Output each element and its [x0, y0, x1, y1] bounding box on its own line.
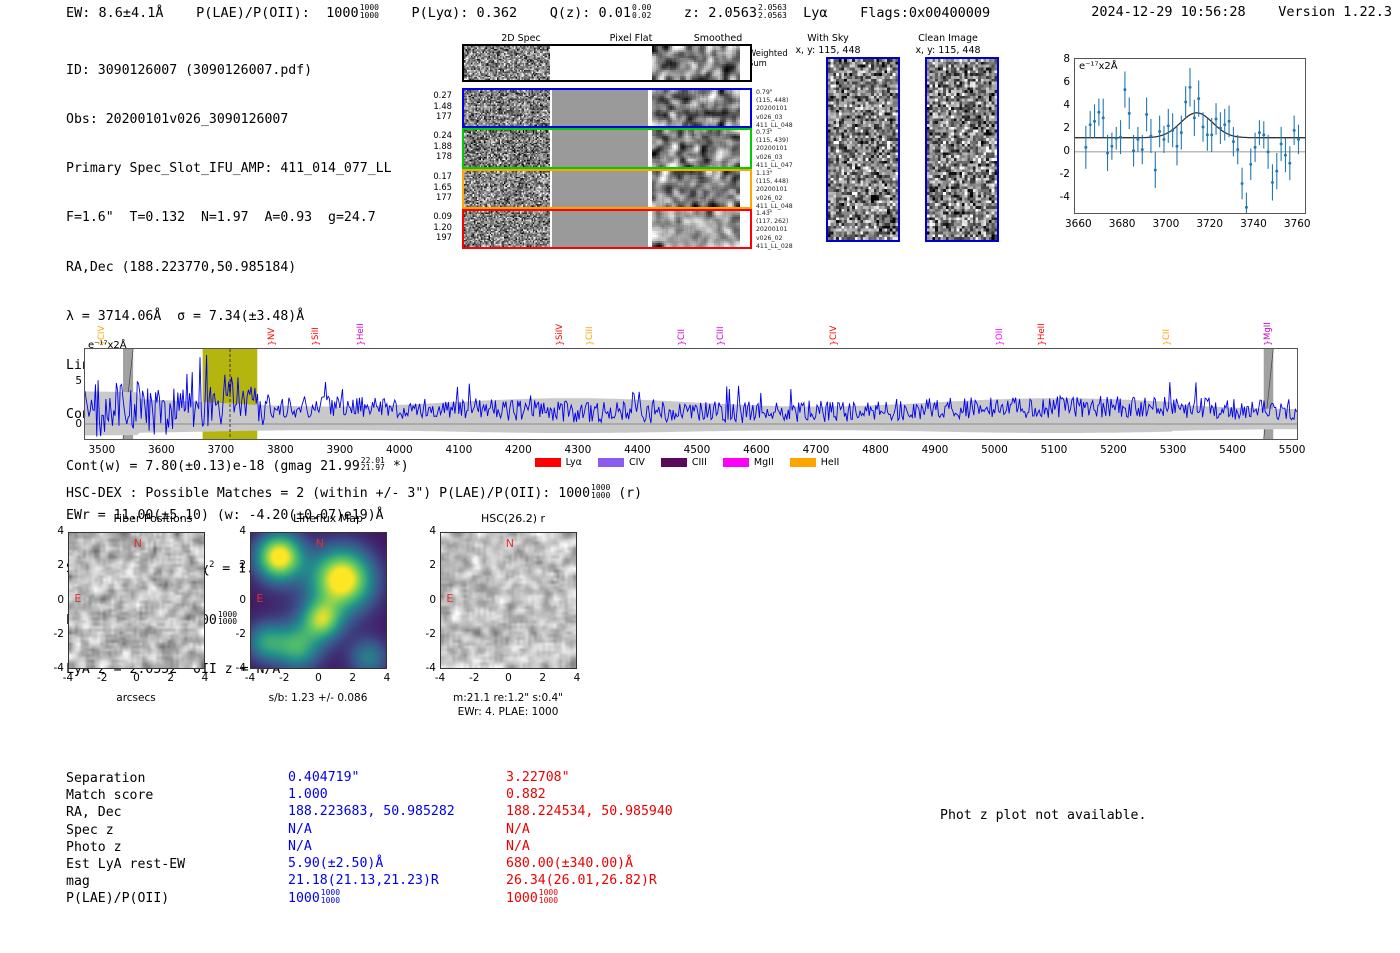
fiber-stats-left: 0.171.65177 [426, 171, 452, 203]
thumbnail-lineflux-map[interactable]: NE [250, 532, 387, 669]
hscdex-headline-pre: HSC-DEX : Possible Matches = 2 (within +… [66, 486, 590, 501]
full-ytick: 0 [52, 418, 82, 430]
line-zoom-plot: e⁻¹⁷x2Å -4-20246836603680370037203740376… [1032, 52, 1312, 242]
header-plya: P(Lyα): 0.362 [412, 5, 518, 21]
emission-line-label: NV [267, 318, 277, 340]
compass-north: N [506, 537, 514, 550]
zoom-unit-label: e⁻¹⁷x2Å [1079, 61, 1118, 72]
match-row-label: Spec z [66, 822, 114, 839]
full-xtick: 4400 [615, 444, 659, 456]
match-row-value: 5.90(±2.50)Å [288, 855, 383, 872]
fiber-meta-right: 1.43"(117, 262)20200101v026_02411_LL_028 [756, 210, 793, 251]
cutout-title-text: Clean Image [918, 33, 978, 44]
legend-swatch [535, 458, 561, 467]
full-xtick: 4300 [556, 444, 600, 456]
match-row-value: 188.224534, 50.985940 [506, 803, 673, 820]
match-row-value: 0.882 [506, 786, 546, 803]
thumb-xtick: -2 [89, 672, 115, 684]
thumb-ytick: 2 [414, 559, 436, 571]
cutout-title-text: With Sky [807, 33, 848, 44]
col-title-smoothed: Smoothed [663, 33, 773, 44]
full-unit-label: e⁻¹⁷x2Å [88, 340, 127, 351]
zoom-ytick: 2 [1040, 122, 1070, 134]
hsc-sky-image [441, 533, 576, 668]
emission-line-brace: { [584, 340, 594, 346]
fiber-stats-left: 0.091.20197 [426, 211, 452, 243]
spec2d-pixelflat-image [552, 171, 648, 207]
full-xtick: 5300 [1151, 444, 1195, 456]
thumb-xtick: 0 [124, 672, 150, 684]
cutout-pixels [927, 59, 997, 240]
header-qz-range: 0.000.02 [632, 4, 651, 19]
compass-east: E [446, 592, 453, 605]
full-spectrum-svg [85, 349, 1297, 439]
zoom-xtick: 3680 [1100, 218, 1144, 230]
thumb-ytick: -4 [414, 662, 436, 674]
thumb-ytick: 2 [42, 559, 64, 571]
thumb-ytick: 0 [42, 594, 64, 606]
full-xtick: 3500 [80, 444, 124, 456]
thumb-xtick: 2 [158, 672, 184, 684]
emission-line-label: CIII [585, 318, 595, 340]
emission-line-label: OII [995, 318, 1005, 340]
match-row-label: RA, Dec [66, 804, 122, 821]
zoom-xtick: 3720 [1188, 218, 1232, 230]
full-xtick: 5500 [1270, 444, 1314, 456]
full-xtick: 5000 [973, 444, 1017, 456]
thumb-ytick: -2 [414, 628, 436, 640]
thumb-ytick: 4 [224, 525, 246, 537]
legend-item: MgII [723, 457, 774, 468]
emission-line-brace: { [1161, 340, 1171, 346]
match-plae-range: 10001000 [539, 889, 558, 904]
zoom-plot-axes: e⁻¹⁷x2Å [1074, 58, 1306, 214]
legend-item: Lyα [535, 457, 582, 468]
hscdex-plae-range: 10001000 [591, 484, 610, 499]
spec2d-pixelflat-image [552, 46, 648, 80]
info-id: ID: 3090126007 (3090126007.pdf) [66, 63, 409, 79]
emission-line-brace: { [1036, 340, 1046, 346]
spec2d-strip [462, 128, 752, 169]
thumb-title-lineflux-map: Lineflux Map [238, 512, 418, 525]
zoom-ytick: -2 [1040, 168, 1070, 180]
thumb-ytick: -2 [42, 628, 64, 640]
match-row-value: 26.34(26.01,26.82)R [506, 872, 657, 889]
emission-line-brace: { [310, 340, 320, 346]
spec2d-raw-image [464, 90, 550, 126]
fiber-meta-right: 0.73"(115, 439)20200101v026_03411_LL_047 [756, 129, 793, 170]
emission-line-label: HeII [1037, 318, 1047, 340]
emission-line-brace: { [676, 340, 686, 346]
spec2d-raw-image [464, 211, 550, 247]
thumbnail-hsc-r[interactable]: NE [440, 532, 577, 669]
spec2d-smoothed-image [652, 46, 740, 80]
full-xtick: 3800 [258, 444, 302, 456]
spec2d-raw-image [464, 46, 550, 80]
match-row-value: 680.00(±340.00)Å [506, 855, 633, 872]
full-xtick: 5400 [1211, 444, 1255, 456]
full-spectrum-plot: e⁻¹⁷x2Å LyαCIVCIIIMgIIHeII 3500360037003… [66, 318, 1308, 468]
zoom-ytick: 4 [1040, 99, 1070, 111]
header-z-line: Lyα [803, 5, 827, 21]
thumb-xtick: 4 [192, 672, 218, 684]
thumb-ytick: 4 [42, 525, 64, 537]
legend-label: Lyα [566, 457, 582, 468]
thumb-ytick: 4 [414, 525, 436, 537]
match-row-value: 21.18(21.13,21.23)R [288, 872, 439, 889]
cutout-sub-text: x, y: 115, 448 [915, 45, 980, 56]
emission-line-label: CII [1162, 318, 1172, 340]
zoom-ytick: 0 [1040, 145, 1070, 157]
compass-east: E [74, 592, 81, 605]
header-ew: EW: 8.6±4.1Å [66, 5, 164, 21]
legend-swatch [790, 458, 816, 467]
emission-line-brace: { [554, 340, 564, 346]
emission-line-label: CII [677, 318, 687, 340]
thumbnail-fiber-positions[interactable]: NE [68, 532, 205, 669]
match-row-value: 100010001000 [506, 889, 558, 907]
info-plae-range: 10001000 [218, 611, 237, 626]
header-plae-range: 10001000 [360, 4, 379, 19]
cutout-image-clean [925, 57, 999, 242]
match-plae-range: 10001000 [321, 889, 340, 904]
emission-line-brace: { [266, 340, 276, 346]
legend-swatch [723, 458, 749, 467]
full-xtick: 5200 [1092, 444, 1136, 456]
legend-label: MgII [754, 457, 774, 468]
match-row-label: Match score [66, 787, 153, 804]
zoom-ytick: 8 [1040, 53, 1070, 65]
match-row-label: P(LAE)/P(OII) [66, 890, 169, 907]
legend-item: CIV [598, 457, 645, 468]
spec2d-smoothed-image [652, 211, 740, 247]
full-xtick: 4100 [437, 444, 481, 456]
zoom-xtick: 3760 [1275, 218, 1319, 230]
col-title-2dspec: 2D Spec [466, 33, 576, 44]
full-xtick: 4900 [913, 444, 957, 456]
full-xtick: 4200 [496, 444, 540, 456]
full-ytick: 5 [52, 375, 82, 387]
emission-line-label: SiII [311, 318, 321, 340]
spectrum-legend: LyαCIVCIIIMgIIHeII [66, 457, 1308, 468]
match-row-value: N/A [506, 838, 530, 855]
thumb-caption-hsc-2: EWr: 4. PLAE: 1000 [418, 706, 598, 719]
photz-not-available-message: Phot z plot not available. [940, 808, 1146, 823]
emission-line-label: MgII [1263, 318, 1273, 340]
spec2d-pixelflat-image [552, 130, 648, 167]
legend-swatch [661, 458, 687, 467]
header-qz: Q(z): 0.01 [550, 5, 631, 21]
match-row-label: Photo z [66, 839, 122, 856]
info-seeing: F=1.6" T=0.132 N=1.97 A=0.93 g=24.7 [66, 210, 409, 226]
thumb-xtick: 0 [306, 672, 332, 684]
legend-label: CIII [692, 457, 707, 468]
spec2d-smoothed-image [652, 171, 740, 207]
compass-north: N [134, 537, 142, 550]
emission-line-label: HeII [356, 318, 366, 340]
spec2d-smoothed-image [652, 130, 740, 167]
cutout-title-cleanimage: Clean Image x, y: 115, 448 [903, 33, 993, 56]
full-xtick: 3600 [139, 444, 183, 456]
thumb-xtick: 2 [530, 672, 556, 684]
cutout-pixels [828, 59, 898, 240]
legend-item: HeII [790, 457, 840, 468]
timestamp-version: 2024-12-29 10:56:28 Version 1.22.3 [1091, 4, 1392, 20]
full-xtick: 4800 [853, 444, 897, 456]
full-spectrum-axes [84, 348, 1298, 440]
header-z-range: 2.05632.0563 [758, 4, 787, 19]
full-xtick: 4600 [734, 444, 778, 456]
fiber-sky-image [69, 533, 204, 668]
cutout-title-withsky: With Sky x, y: 115, 448 [783, 33, 873, 56]
info-radec: RA,Dec (188.223770,50.985184) [66, 260, 409, 276]
thumb-xtick: 0 [496, 672, 522, 684]
header-z: z: 2.0563 [684, 5, 757, 21]
spec2d-raw-image [464, 130, 550, 167]
match-row-value: 1.000 [288, 786, 328, 803]
thumb-caption-lineflux: s/b: 1.23 +/- 0.086 [228, 692, 408, 705]
hscdex-headline-post: (r) [618, 486, 642, 501]
thumb-caption-fiber: arcsecs [46, 692, 226, 705]
spec2d-strip [462, 209, 752, 249]
zoom-ytick: -4 [1040, 191, 1070, 203]
datetime-text: 2024-12-29 10:56:28 [1091, 4, 1245, 20]
hscdex-headline: HSC-DEX : Possible Matches = 2 (within +… [66, 484, 642, 501]
thumb-xtick: -2 [461, 672, 487, 684]
fiber-stats-left: 0.241.88178 [426, 130, 452, 162]
header-plae-label: P(LAE)/P(OII): [196, 5, 310, 21]
fiber-meta-right: 1.13"(115, 448)20200101v026_02411_LL_048 [756, 170, 793, 211]
thumb-xtick: 2 [340, 672, 366, 684]
emission-line-label: CIV [829, 318, 839, 340]
emission-line-brace: { [828, 340, 838, 346]
info-primary-spec: Primary Spec_Slot_IFU_AMP: 411_014_077_L… [66, 161, 409, 177]
version-text: Version 1.22.3 [1278, 4, 1392, 20]
full-xtick: 5100 [1032, 444, 1076, 456]
match-row-value: 0.404719" [288, 769, 359, 786]
match-row-value: N/A [288, 838, 312, 855]
full-xtick: 4700 [794, 444, 838, 456]
thumb-ytick: -2 [224, 628, 246, 640]
emission-line-label: CIII [716, 318, 726, 340]
summary-header: EW: 8.6±4.1Å P(LAE)/P(OII): 100010001000… [66, 4, 990, 21]
match-row-label: mag [66, 873, 90, 890]
spec2d-smoothed-image [652, 90, 740, 126]
thumb-title-fiber-positions: Fiber Positions [63, 512, 243, 525]
full-xtick: 3900 [318, 444, 362, 456]
match-row-value: 3.22708" [506, 769, 570, 786]
thumb-ytick: 0 [414, 594, 436, 606]
emission-line-label: CIV [97, 318, 107, 340]
zoom-ytick: 6 [1040, 76, 1070, 88]
header-flags: Flags:0x00400009 [860, 5, 990, 21]
legend-item: CIII [661, 457, 707, 468]
fiber-stats-left: 0.271.48177 [426, 90, 452, 122]
spec2d-strip [462, 88, 752, 128]
thumb-ytick: 2 [224, 559, 246, 571]
compass-east: E [256, 592, 263, 605]
thumb-title-hsc-r: HSC(26.2) r [423, 512, 603, 525]
thumb-caption-hsc: m:21.1 re:1.2" s:0.4" [418, 692, 598, 705]
zoom-plot-svg [1075, 59, 1305, 213]
legend-label: HeII [821, 457, 840, 468]
match-row-value: N/A [288, 821, 312, 838]
zoom-xtick: 3660 [1056, 218, 1100, 230]
full-xtick: 4500 [675, 444, 719, 456]
match-row-value: N/A [506, 821, 530, 838]
zoom-xtick: 3740 [1231, 218, 1275, 230]
match-row-value: 188.223683, 50.985282 [288, 803, 455, 820]
spec2d-strip [462, 169, 752, 209]
emission-line-brace: { [355, 340, 365, 346]
fiber-meta-right: 0.79"(115, 448)20200101v026_03411_LL_048 [756, 89, 793, 130]
match-row-value: 100010001000 [288, 889, 340, 907]
header-plae-value: 1000 [326, 5, 359, 21]
zoom-xtick: 3700 [1144, 218, 1188, 230]
thumb-xtick: 4 [564, 672, 590, 684]
emission-line-label: SiIV [555, 318, 565, 340]
thumb-ytick: 0 [224, 594, 246, 606]
spec2d-raw-image [464, 171, 550, 207]
match-row-label: Est LyA rest-EW [66, 856, 185, 873]
legend-label: CIV [629, 457, 645, 468]
legend-swatch [598, 458, 624, 467]
spec2d-pixelflat-image [552, 90, 648, 126]
spec2d-pixelflat-image [552, 211, 648, 247]
spec2d-strip [462, 44, 752, 82]
thumb-xtick: 4 [374, 672, 400, 684]
full-xtick: 3700 [199, 444, 243, 456]
full-xtick: 4000 [377, 444, 421, 456]
weighted-sum-label: WeightedSum [748, 48, 788, 68]
cutout-image-withsky [826, 57, 900, 242]
cutout-sub-text: x, y: 115, 448 [795, 45, 860, 56]
thumb-ytick: -4 [42, 662, 64, 674]
info-obs: Obs: 20200101v026_3090126007 [66, 112, 409, 128]
compass-north: N [316, 537, 324, 550]
match-row-label: Separation [66, 770, 145, 787]
thumb-xtick: -2 [271, 672, 297, 684]
thumb-ytick: -4 [224, 662, 246, 674]
emission-line-brace: { [1262, 340, 1272, 346]
lineflux-heatmap [251, 533, 386, 668]
emission-line-brace: { [994, 340, 1004, 346]
emission-line-brace: { [715, 340, 725, 346]
